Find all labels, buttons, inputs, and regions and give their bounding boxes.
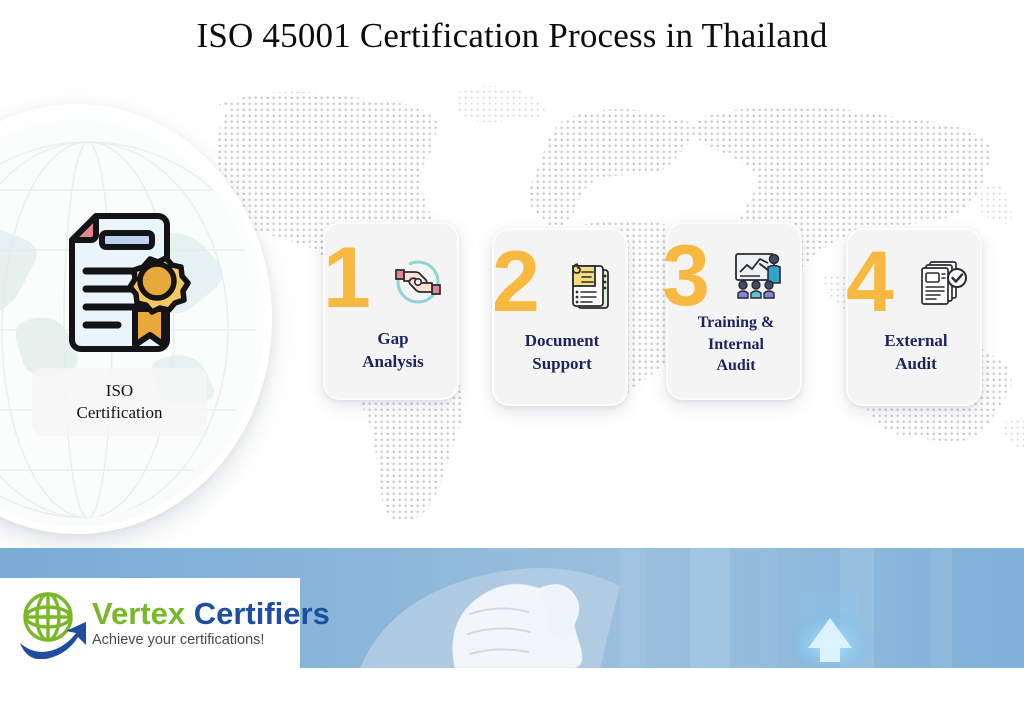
step-number-4: 4 — [846, 246, 891, 318]
step-label-3-line-3: Audit — [668, 355, 804, 377]
documents-checkmark-icon — [914, 256, 970, 312]
step-label-2-line-2: Support — [494, 353, 630, 376]
step-label-2: Document Support — [494, 330, 630, 376]
process-steps-group: 1 Gap Analysis 2 — [0, 0, 1024, 530]
step-card-4[interactable]: 4 — [846, 228, 982, 406]
step-number-1: 1 — [323, 242, 368, 314]
step-card-3[interactable]: 3 — [666, 222, 802, 400]
step-label-3-line-1: Training & — [668, 312, 804, 334]
step-number-2: 2 — [492, 246, 537, 318]
logo-brand-first: Vertex — [92, 596, 185, 631]
infographic-canvas: ISO 45001 Certification Process in Thail… — [0, 0, 1024, 724]
step-label-1: Gap Analysis — [325, 328, 461, 374]
handshake-partnership-icon — [390, 254, 446, 310]
step-label-3: Training & Internal Audit — [668, 312, 804, 377]
step-label-1-line-2: Analysis — [325, 351, 461, 374]
vertex-globe-arrow-logo-icon — [14, 587, 86, 659]
logo-tagline: Achieve your certifications! — [92, 632, 330, 648]
logo-brand-name: Vertex Certifiers — [92, 598, 330, 630]
step-label-3-line-2: Internal — [668, 334, 804, 356]
step-label-4: External Audit — [848, 330, 984, 376]
step-card-1[interactable]: 1 Gap Analysis — [323, 222, 459, 400]
step-number-3: 3 — [662, 240, 707, 312]
logo-brand-second: Certifiers — [194, 596, 330, 631]
documents-stack-icon — [560, 258, 616, 314]
step-label-2-line-1: Document — [494, 330, 630, 353]
training-presentation-icon — [730, 248, 786, 304]
step-card-2[interactable]: 2 — [492, 228, 628, 406]
step-label-1-line-1: Gap — [325, 328, 461, 351]
logo-wordmark: Vertex Certifiers Achieve your certifica… — [92, 598, 330, 649]
step-label-4-line-1: External — [848, 330, 984, 353]
vertex-certifiers-logo[interactable]: Vertex Certifiers Achieve your certifica… — [0, 578, 300, 668]
step-label-4-line-2: Audit — [848, 353, 984, 376]
